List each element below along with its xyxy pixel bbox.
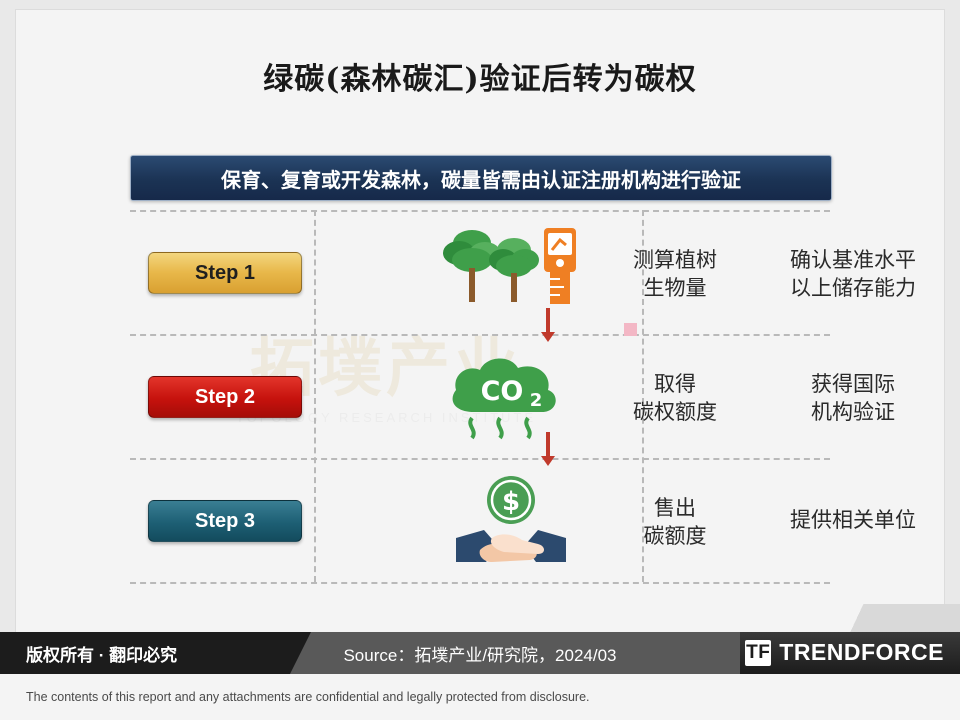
copyright-tab: 版权所有 · 翻印必究	[0, 632, 290, 674]
grid-line-bottom	[130, 582, 830, 584]
step-3-middle-text: 售出 碳额度	[600, 494, 750, 551]
trees-measurement-icon	[426, 210, 596, 334]
handshake-money-icon: $	[426, 458, 596, 582]
banner-heading: 保育、复育或开发森林，碳量皆需由认证注册机构进行验证	[130, 155, 832, 201]
step-3-right-text: 提供相关单位	[758, 506, 948, 534]
svg-text:$: $	[502, 487, 520, 517]
pink-marker	[624, 323, 637, 336]
step-2-middle-text: 取得 碳权额度	[600, 370, 750, 427]
trendforce-mark-icon: TF	[745, 640, 771, 666]
step-badge-1[interactable]: Step 1	[148, 252, 302, 294]
svg-text:CO: CO	[481, 376, 524, 407]
step-row-3: Step 3 $ 售出 碳额度 提供相关单位	[130, 458, 830, 582]
disclaimer-text: The contents of this report and any atta…	[0, 674, 960, 720]
trendforce-logo: TF TRENDFORCE	[745, 639, 944, 666]
step-badge-2[interactable]: Step 2	[148, 376, 302, 418]
step-1-middle-text: 测算植树 生物量	[600, 246, 750, 303]
step-badge-3[interactable]: Step 3	[148, 500, 302, 542]
steps-grid: Step 1	[130, 210, 830, 582]
step-1-right-text: 确认基准水平 以上储存能力	[758, 246, 948, 303]
step-2-right-text: 获得国际 机构验证	[758, 370, 948, 427]
corner-fold-decoration	[770, 604, 960, 632]
trendforce-wordmark: TRENDFORCE	[779, 639, 944, 666]
page-title: 绿碳(森林碳汇)验证后转为碳权	[16, 54, 944, 98]
step-row-1: Step 1	[130, 210, 830, 334]
co2-cloud-icon: CO 2	[426, 334, 596, 458]
svg-text:2: 2	[530, 390, 543, 411]
step-row-2: Step 2 CO 2 取得 碳权额度 获得国际 机构验证	[130, 334, 830, 458]
